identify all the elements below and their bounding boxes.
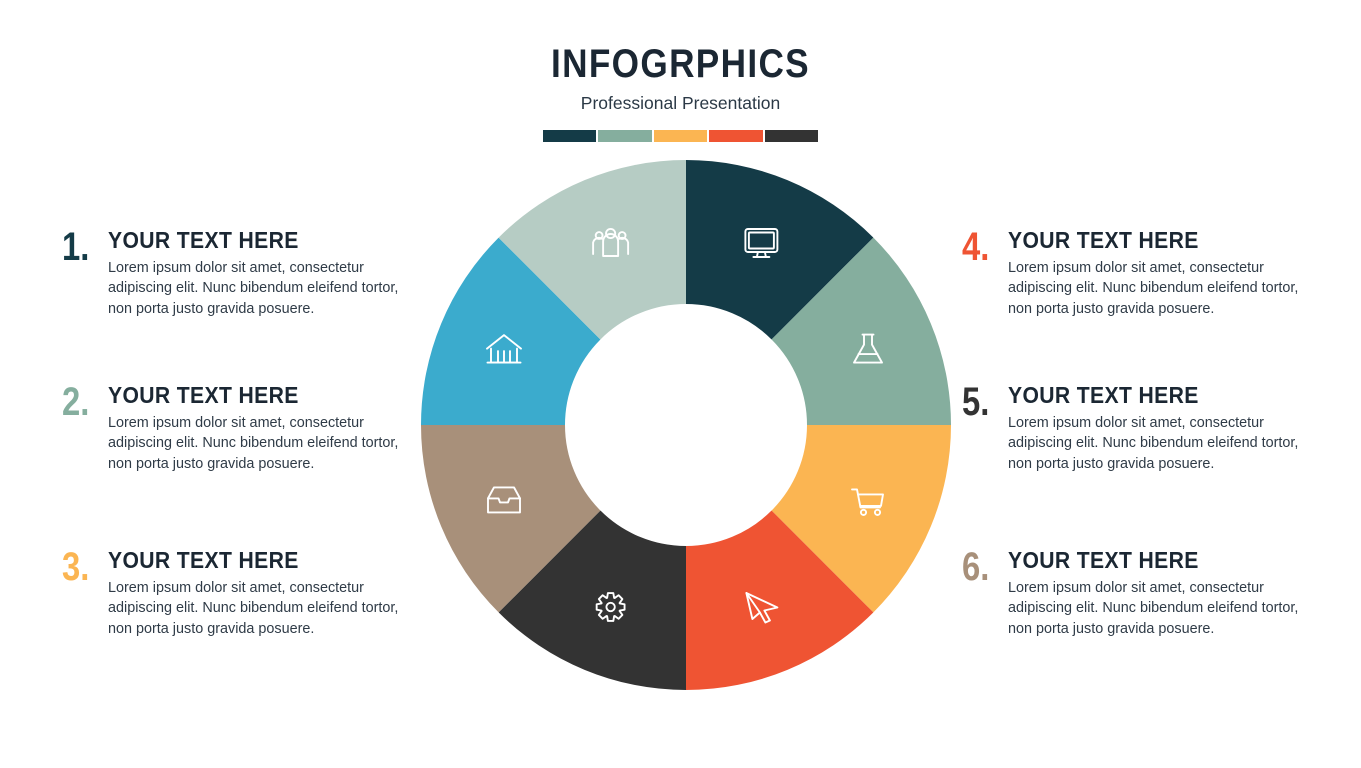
header: INFOGRPHICS Professional Presentation	[0, 44, 1361, 142]
item-body: YOUR TEXT HERELorem ipsum dolor sit amet…	[1008, 383, 1312, 474]
item-number: 6.	[962, 548, 1000, 587]
item-number: 4.	[962, 228, 1000, 267]
item-description: Lorem ipsum dolor sit amet, consectetur …	[1008, 578, 1312, 639]
item-heading: YOUR TEXT HERE	[108, 229, 382, 253]
page-title: INFOGRPHICS	[82, 44, 1280, 84]
item-description: Lorem ipsum dolor sit amet, consectetur …	[108, 258, 412, 319]
list-item: 3.YOUR TEXT HERELorem ipsum dolor sit am…	[62, 548, 412, 639]
item-heading: YOUR TEXT HERE	[1008, 549, 1282, 573]
item-heading: YOUR TEXT HERE	[108, 384, 382, 408]
item-heading: YOUR TEXT HERE	[1008, 229, 1282, 253]
item-body: YOUR TEXT HERELorem ipsum dolor sit amet…	[108, 228, 412, 319]
item-heading: YOUR TEXT HERE	[108, 549, 382, 573]
item-number: 1.	[62, 228, 100, 267]
item-number: 5.	[962, 383, 1000, 422]
swatch-amber	[654, 130, 707, 142]
item-description: Lorem ipsum dolor sit amet, consectetur …	[1008, 413, 1312, 474]
item-description: Lorem ipsum dolor sit amet, consectetur …	[108, 578, 412, 639]
donut-chart	[421, 160, 951, 690]
item-description: Lorem ipsum dolor sit amet, consectetur …	[108, 413, 412, 474]
item-heading: YOUR TEXT HERE	[1008, 384, 1282, 408]
list-item: 6.YOUR TEXT HERELorem ipsum dolor sit am…	[962, 548, 1312, 639]
item-body: YOUR TEXT HERELorem ipsum dolor sit amet…	[108, 383, 412, 474]
item-body: YOUR TEXT HERELorem ipsum dolor sit amet…	[1008, 548, 1312, 639]
item-body: YOUR TEXT HERELorem ipsum dolor sit amet…	[108, 548, 412, 639]
swatch-orange	[709, 130, 762, 142]
list-item: 4.YOUR TEXT HERELorem ipsum dolor sit am…	[962, 228, 1312, 319]
list-item: 1.YOUR TEXT HERELorem ipsum dolor sit am…	[62, 228, 412, 319]
swatch-sage	[598, 130, 651, 142]
item-body: YOUR TEXT HERELorem ipsum dolor sit amet…	[1008, 228, 1312, 319]
list-item: 5.YOUR TEXT HERELorem ipsum dolor sit am…	[962, 383, 1312, 474]
swatch-dark-teal	[543, 130, 596, 142]
page-subtitle: Professional Presentation	[0, 95, 1361, 113]
swatch-charcoal	[765, 130, 818, 142]
item-number: 2.	[62, 383, 100, 422]
color-swatch-bar	[543, 130, 818, 142]
list-item: 2.YOUR TEXT HERELorem ipsum dolor sit am…	[62, 383, 412, 474]
donut-center-hole	[566, 305, 806, 545]
item-description: Lorem ipsum dolor sit amet, consectetur …	[1008, 258, 1312, 319]
item-number: 3.	[62, 548, 100, 587]
